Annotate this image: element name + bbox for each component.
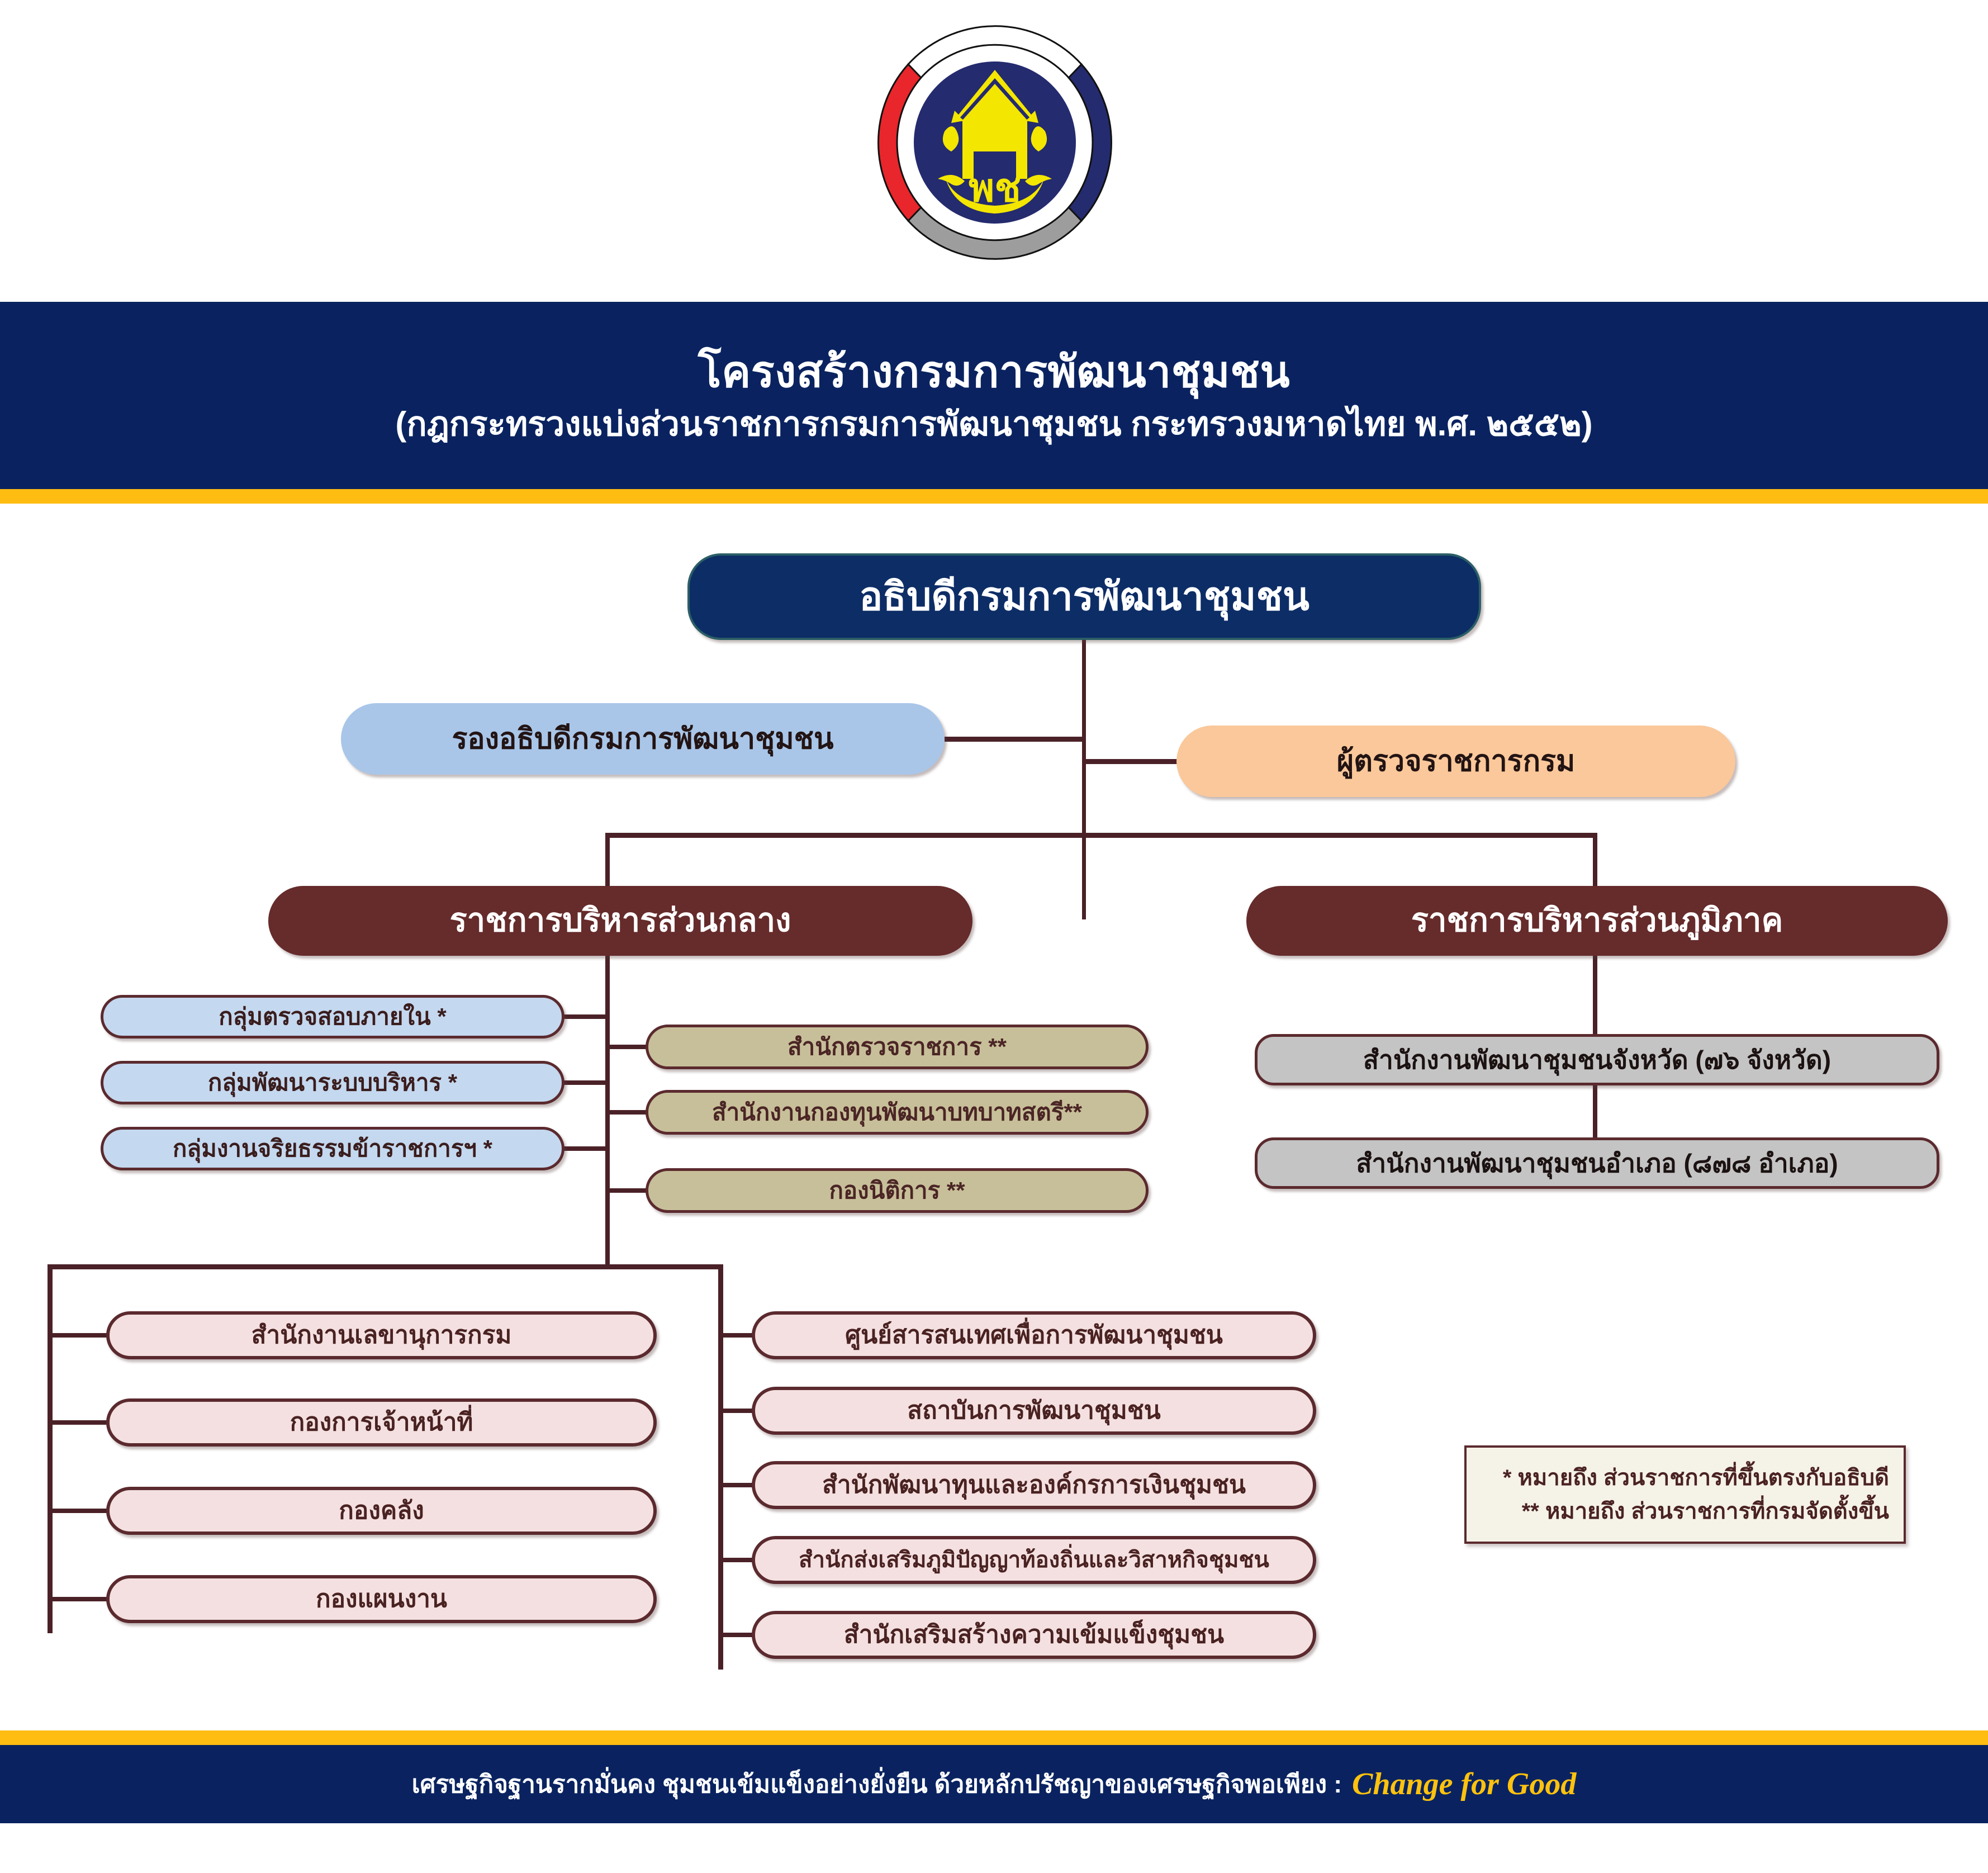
connector-inspector [1082,759,1178,764]
box-director[interactable]: อธิบดีกรมการพัฒนาชุมชน [687,553,1481,640]
unit-inspection-bureau[interactable]: สำนักตรวจราชการ ** [646,1025,1149,1069]
unit-personnel-division[interactable]: กองการเจ้าหน้าที่ [106,1398,657,1447]
connector-left-pink-2 [48,1420,109,1425]
connector-bracket-top-right [605,1264,723,1269]
unit-finance-division[interactable]: กองคลัง [106,1487,657,1535]
unit-provincial-cdd-office[interactable]: สำนักงานพัฒนาชุมชนจังหวัด (๗๖ จังหวัด) [1255,1034,1939,1085]
unit-information-center[interactable]: ศูนย์สารสนเทศเพื่อการพัฒนาชุมชน [752,1311,1316,1359]
gold-divider-top [0,489,1988,504]
connector-olive-2 [607,1110,647,1115]
connector-deputy [945,737,1084,742]
connector-bracket-right-rail [718,1264,723,1670]
connector-director-vertical [1082,640,1086,919]
legend-box: * หมายถึง ส่วนราชการที่ขึ้นตรงกับอธิบดี … [1464,1445,1906,1544]
connector-olive-1 [607,1045,647,1049]
gold-divider-bottom [0,1730,1988,1745]
box-deputy-director[interactable]: รองอธิบดีกรมการพัฒนาชุมชน [341,703,945,775]
section-header-regional-administration[interactable]: ราชการบริหารส่วนภูมิภาค [1246,886,1948,956]
box-department-inspector[interactable]: ผู้ตรวจราชการกรม [1176,726,1735,797]
section-header-central-administration[interactable]: ราชการบริหารส่วนกลาง [268,886,972,956]
unit-office-of-the-secretary[interactable]: สำนักงานเลขานุการกรม [106,1311,657,1359]
connector-left-pink-1 [48,1333,109,1338]
unit-community-fund-bureau[interactable]: สำนักพัฒนาทุนและองค์กรการเงินชุมชน [752,1461,1316,1509]
connector-central-drop [605,833,610,889]
connector-left-pink-3 [48,1509,109,1513]
footer-vision-text: เศรษฐกิจฐานรากมั่นคง ชุมชนเข้มแข็งอย่างย… [412,1765,1342,1804]
connector-bracket-left-rail [48,1264,53,1633]
header-banner: โครงสร้างกรมการพัฒนาชุมชน (กฎกระทรวงแบ่ง… [0,302,1988,489]
unit-admin-system-development-group[interactable]: กลุ่มพัฒนาระบบบริหาร * [101,1061,564,1104]
unit-district-cdd-office[interactable]: สำนักงานพัฒนาชุมชนอำเภอ (๘๗๘ อำเภอ) [1255,1137,1939,1189]
connector-blue-1 [563,1014,608,1019]
legend-line-double-asterisk: ** หมายถึง ส่วนราชการที่กรมจัดตั้งขึ้น [1522,1495,1889,1528]
unit-community-strengthening-bureau[interactable]: สำนักเสริมสร้างความเข้มแข็งชุมชน [752,1611,1316,1659]
connector-blue-3 [563,1146,608,1151]
page-title: โครงสร้างกรมการพัฒนาชุมชน [698,348,1290,396]
connector-olive-3 [607,1188,647,1193]
footer-banner: เศรษฐกิจฐานรากมั่นคง ชุมชนเข้มแข็งอย่างย… [0,1745,1988,1823]
unit-civil-servant-ethics-group[interactable]: กลุ่มงานจริยธรรมข้าราชการฯ * [101,1127,564,1170]
unit-community-development-institute[interactable]: สถาบันการพัฒนาชุมชน [752,1387,1316,1435]
unit-local-wisdom-bureau[interactable]: สำนักส่งเสริมภูมิปัญญาท้องถิ่นและวิสาหกิ… [752,1536,1316,1584]
unit-internal-audit-group[interactable]: กลุ่มตรวจสอบภายใน * [101,995,564,1039]
org-chart-canvas: พช โครงสร้างกรมการพัฒนาชุมชน (กฎกระทรวงแ… [0,0,1988,1873]
connector-left-pink-4 [48,1597,109,1601]
connector-bracket-top-left [48,1264,611,1269]
unit-legal-affairs-division[interactable]: กองนิติการ ** [646,1168,1149,1213]
page-subtitle: (กฎกระทรวงแบ่งส่วนราชการกรมการพัฒนาชุมชน… [395,405,1592,443]
connector-blue-2 [563,1080,608,1085]
footer-slogan: Change for Good [1352,1766,1576,1802]
unit-planning-division[interactable]: กองแผนงาน [106,1575,657,1623]
legend-line-single-asterisk: * หมายถึง ส่วนราชการที่ขึ้นตรงกับอธิบดี [1503,1461,1889,1495]
connector-regional-drop [1593,833,1597,889]
svg-text:พช: พช [969,165,1021,211]
cdd-emblem-logo: พช [855,11,1135,274]
unit-womens-development-fund-office[interactable]: สำนักงานกองทุนพัฒนาบทบาทสตรี** [646,1090,1149,1135]
connector-section-bus [605,833,1597,838]
